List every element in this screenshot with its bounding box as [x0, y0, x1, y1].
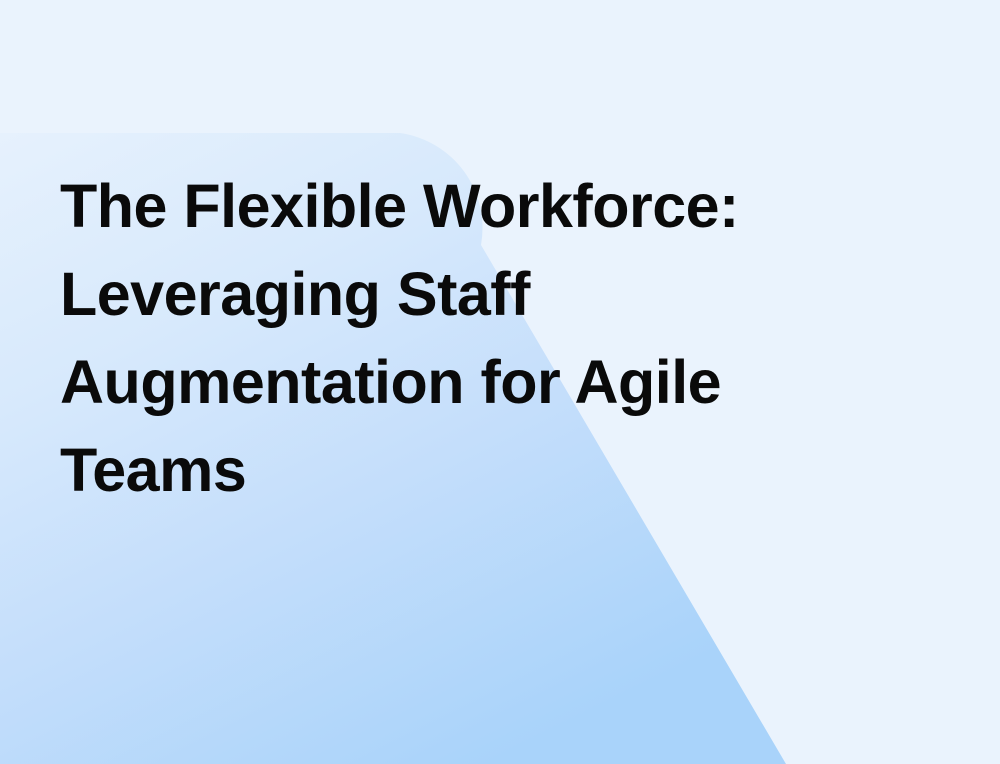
headline-line-4: Teams — [60, 426, 820, 514]
headline-line-3: Augmentation for Agile — [60, 338, 820, 426]
headline-line-1: The Flexible Workforce: — [60, 162, 820, 250]
headline-line-2: Leveraging Staff — [60, 250, 820, 338]
page-title: The Flexible Workforce: Leveraging Staff… — [60, 162, 820, 514]
article-hero-card: The Flexible Workforce: Leveraging Staff… — [0, 0, 1000, 764]
